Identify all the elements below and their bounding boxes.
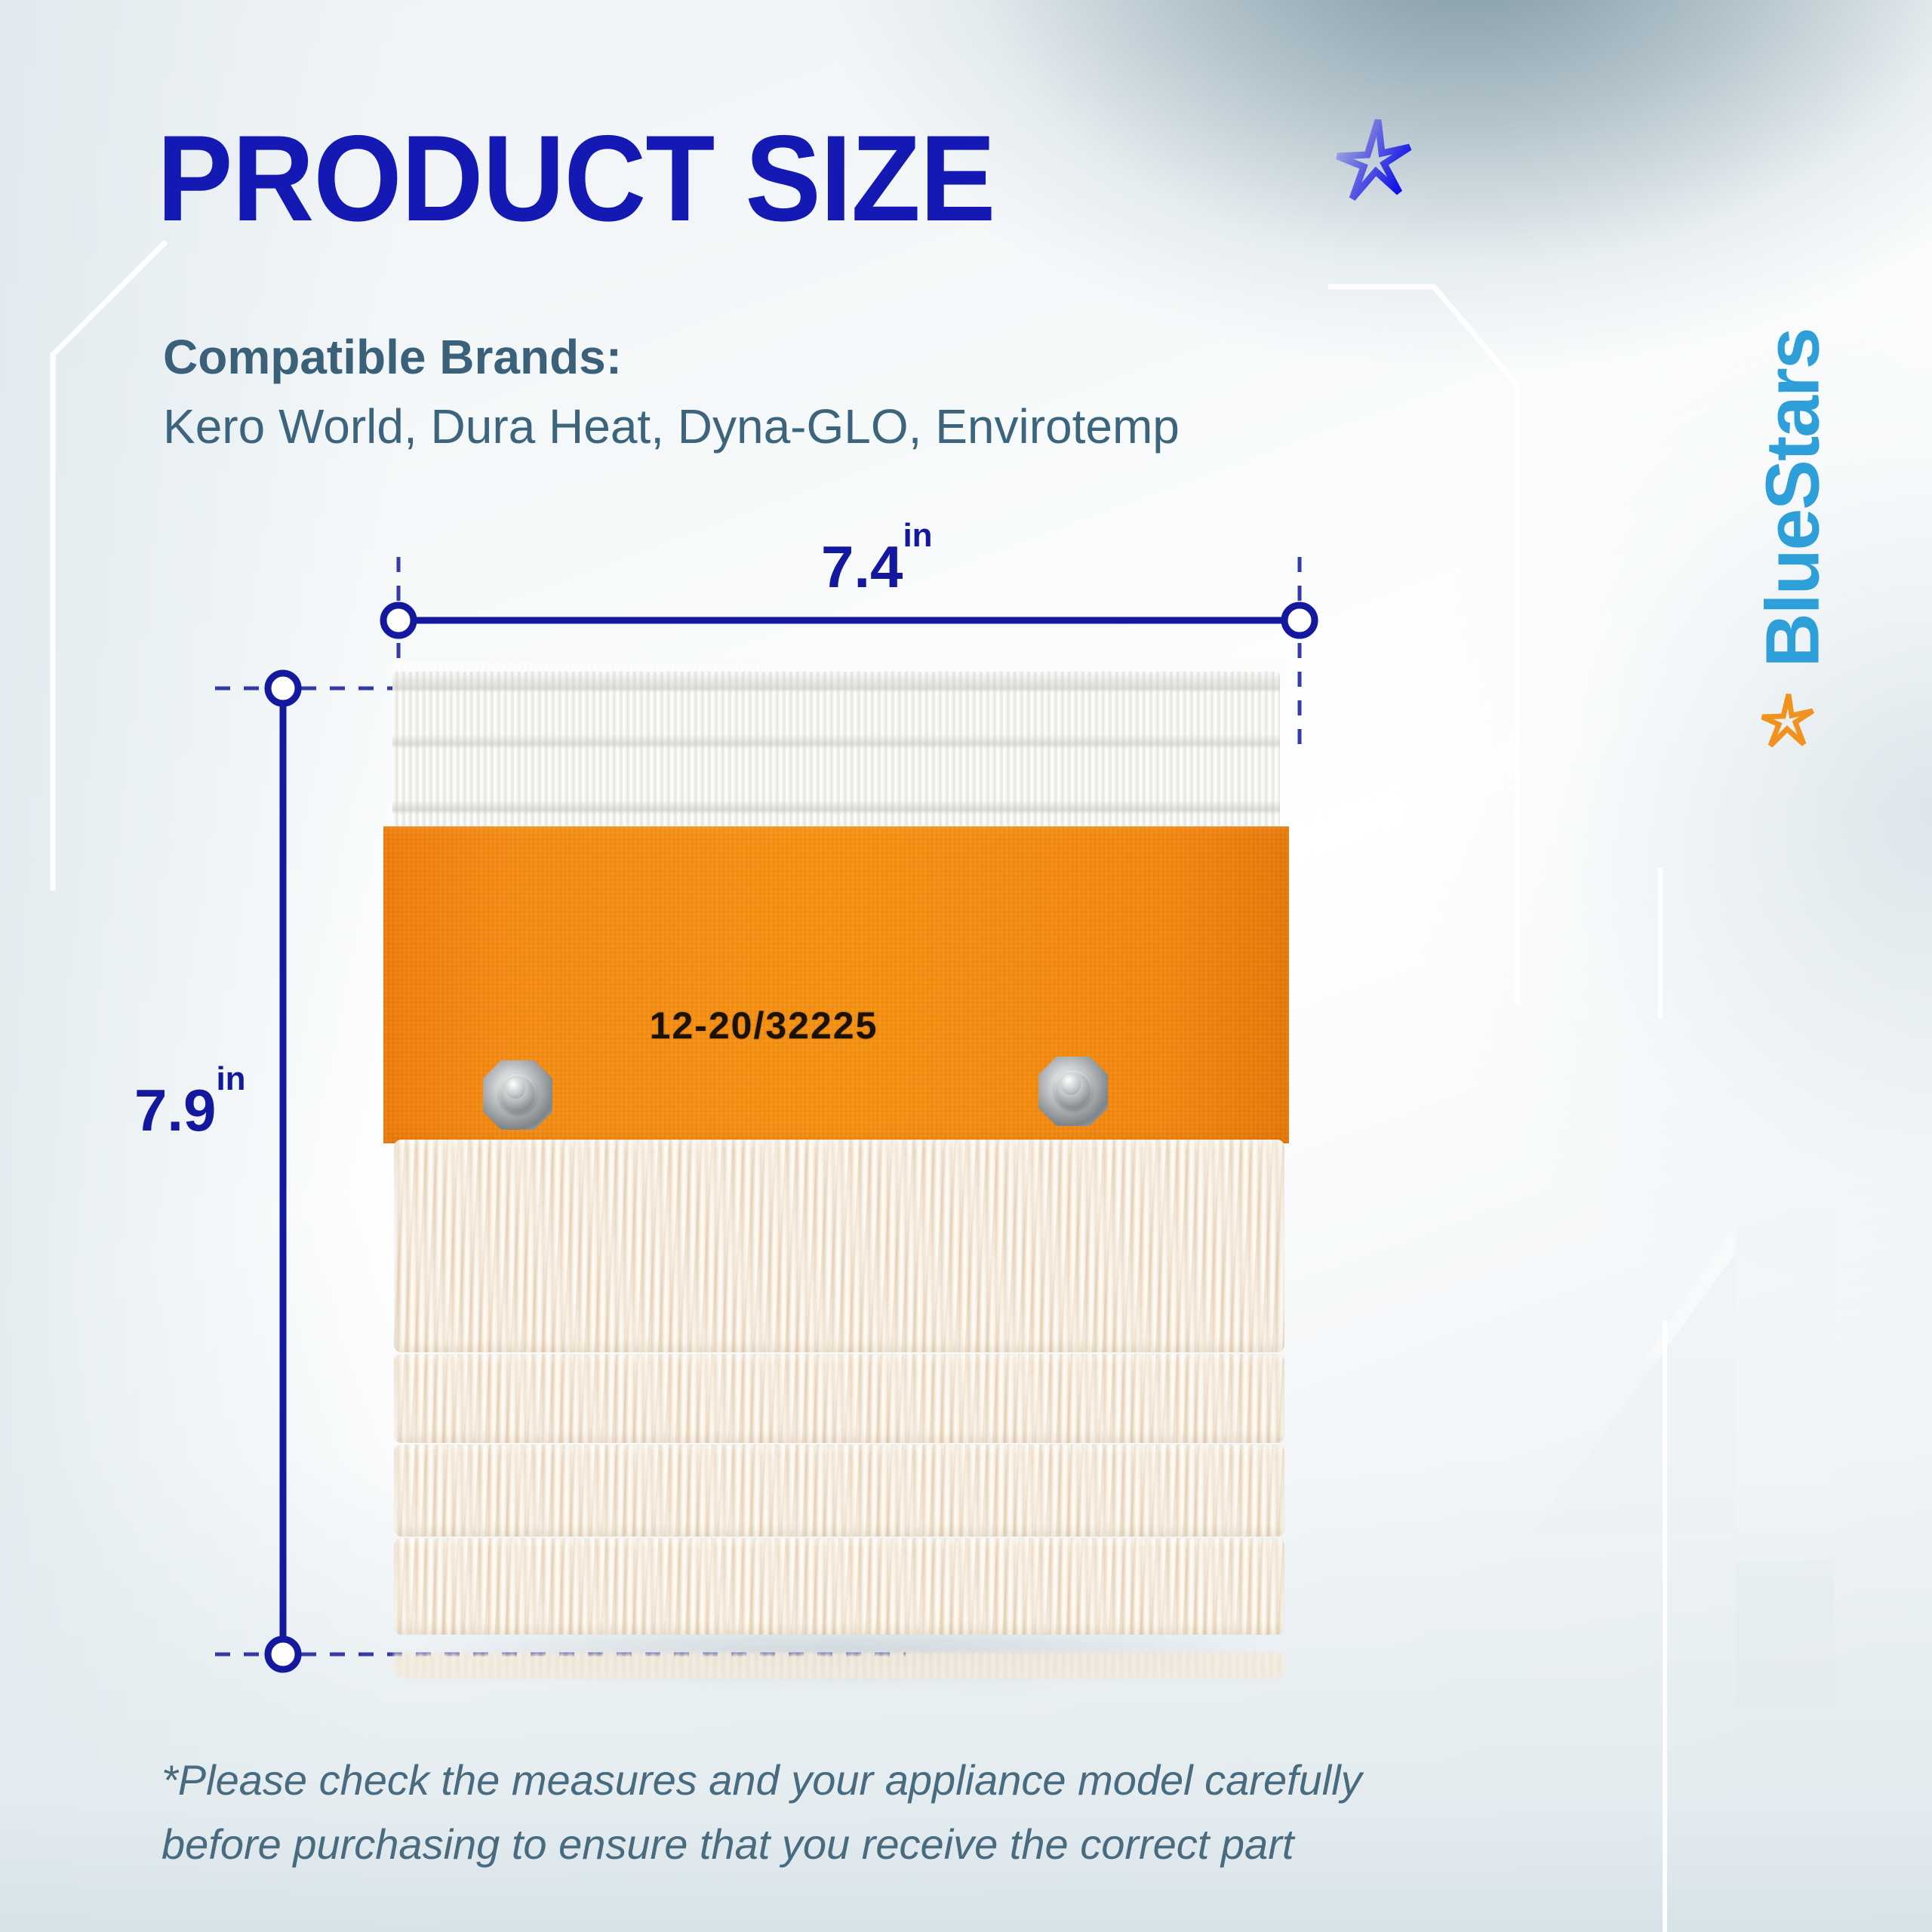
width-dimension-label: 7.4in xyxy=(821,537,933,596)
wick-white-ribbed-top xyxy=(392,672,1280,829)
footnote-text: *Please check the measures and your appl… xyxy=(162,1748,1339,1876)
wick-bottom-fuzz xyxy=(394,1653,1284,1678)
orange-label-band: 12-20/32225 69783 xyxy=(383,826,1289,1143)
wick-segment-2 xyxy=(394,1354,1284,1443)
infographic-canvas: PRODUCT SIZE Compatible Brands: Kero Wor… xyxy=(0,0,1932,1932)
wick-segment-3 xyxy=(394,1444,1284,1537)
footnote-line-2: before purchasing to ensure that you rec… xyxy=(162,1812,1339,1876)
metal-snap-rivet-right xyxy=(1038,1057,1108,1126)
product-code-small: 12-20/32225 xyxy=(311,1004,1217,1048)
footnote-line-1: *Please check the measures and your appl… xyxy=(162,1748,1339,1812)
metal-snap-rivet-left xyxy=(483,1060,552,1130)
height-dimension-label: 7.9in xyxy=(134,1081,246,1140)
product-image: 12-20/32225 69783 xyxy=(383,672,1298,1666)
wick-segment-4 xyxy=(394,1538,1284,1635)
cotton-wick-fringe xyxy=(394,1140,1284,1660)
wick-segment-1 xyxy=(394,1140,1284,1352)
